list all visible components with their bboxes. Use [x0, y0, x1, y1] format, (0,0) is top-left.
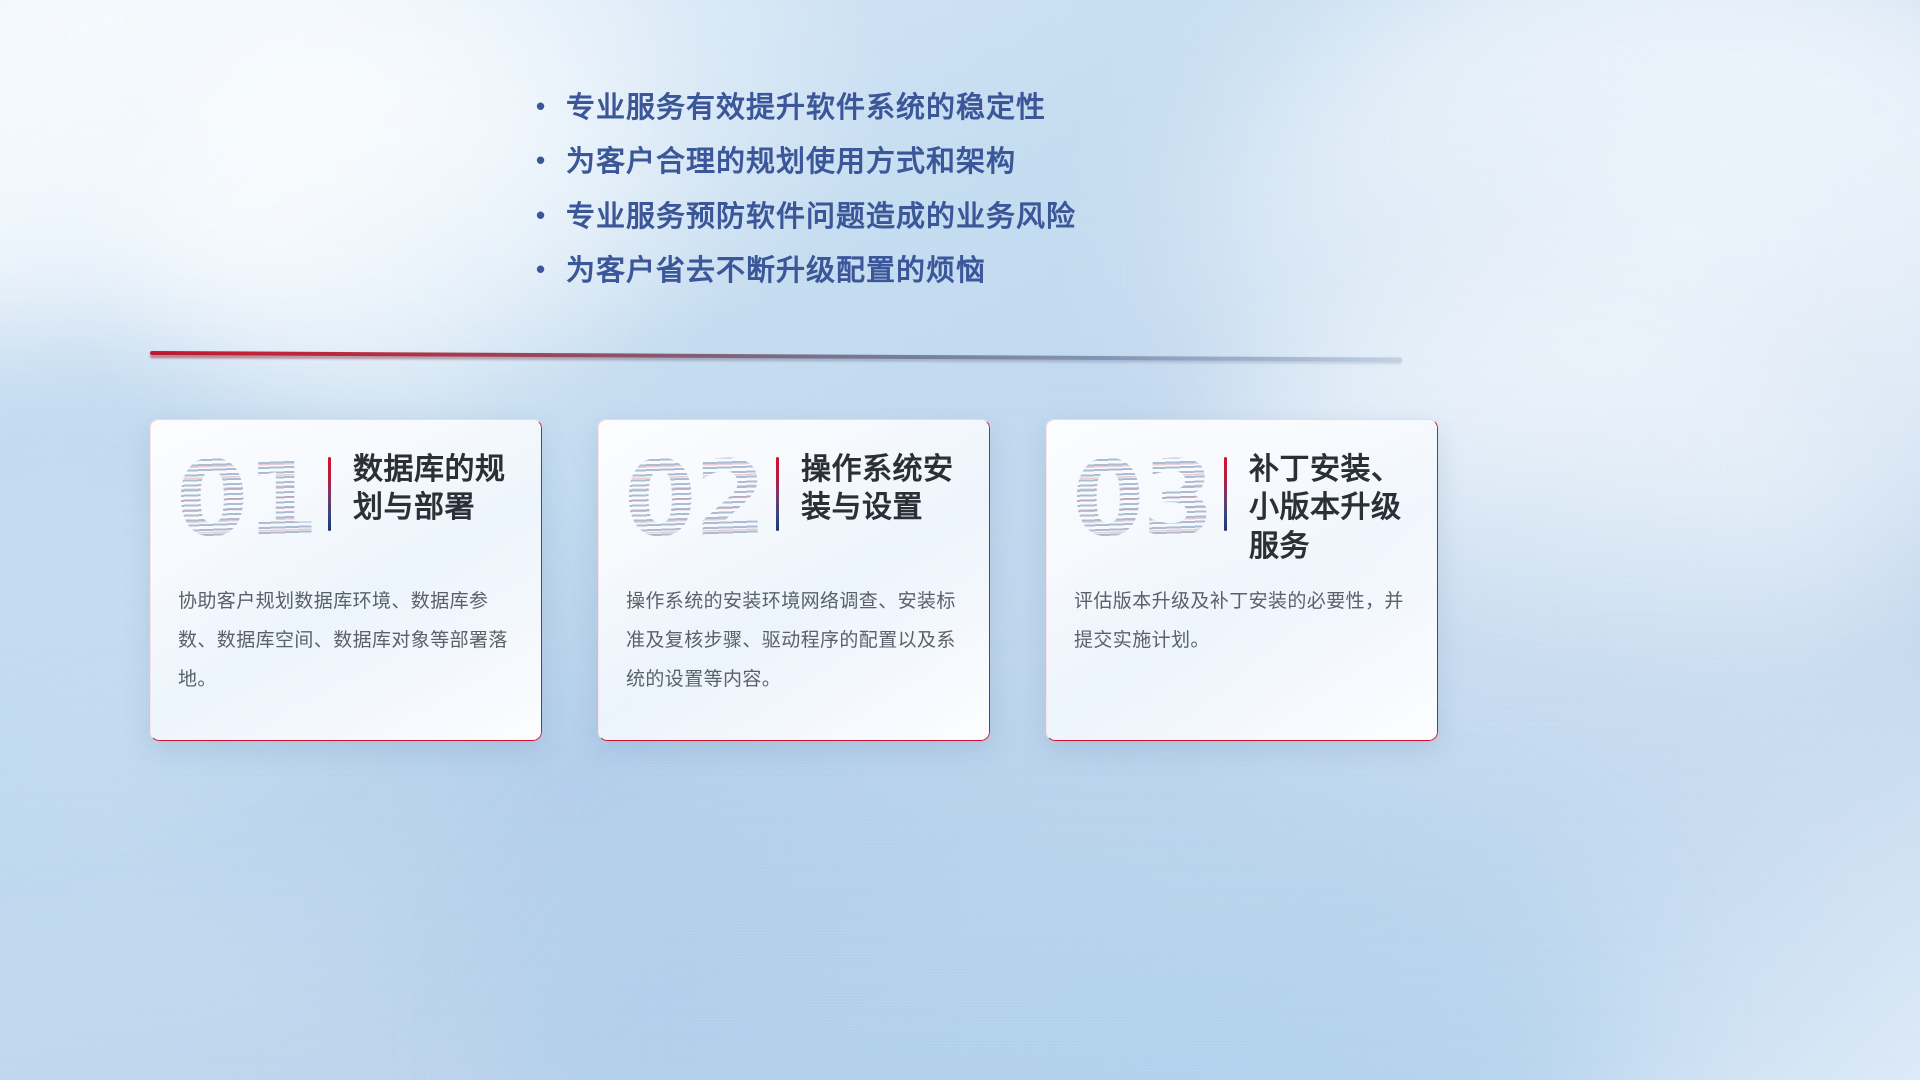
- card-number-watermark: 03: [1072, 445, 1212, 555]
- card-title-row: 数据库的规划与部署: [328, 451, 524, 531]
- title-accent-bar: [776, 457, 779, 531]
- bullet-dot-icon: •: [536, 92, 566, 121]
- card-body-text: 评估版本升级及补丁安装的必要性，并提交实施计划。: [1074, 583, 1414, 661]
- background-glow-bottom: [520, 720, 1620, 1080]
- card-title-row: 补丁安装、小版本升级服务: [1224, 451, 1420, 566]
- slide-canvas: • 专业服务有效提升软件系统的稳定性 • 为客户合理的规划使用方式和架构 • 专…: [0, 0, 1920, 1080]
- card-title-row: 操作系统安装与设置: [776, 451, 972, 531]
- section-divider: [150, 349, 1402, 370]
- bullet-dot-icon: •: [536, 146, 566, 175]
- list-item: • 专业服务预防软件问题造成的业务风险: [536, 201, 1436, 234]
- service-card[interactable]: 03 补丁安装、小版本升级服务 评估版本升级及补丁安装的必要性，并提交实施计划。: [1046, 419, 1438, 741]
- card-title: 数据库的规划与部署: [353, 451, 524, 528]
- bullet-text: 专业服务预防软件问题造成的业务风险: [566, 201, 1076, 234]
- card-body-text: 操作系统的安装环境网络调查、安装标准及复核步骤、驱动程序的配置以及系统的设置等内…: [626, 583, 966, 700]
- card-body-text: 协助客户规划数据库环境、数据库参数、数据库空间、数据库对象等部署落地。: [178, 583, 518, 700]
- title-accent-bar: [328, 457, 331, 531]
- bullet-text: 专业服务有效提升软件系统的稳定性: [566, 92, 1046, 125]
- card-number-watermark: 01: [176, 445, 316, 555]
- card-title: 操作系统安装与设置: [801, 451, 972, 528]
- bullet-text: 为客户合理的规划使用方式和架构: [566, 146, 1016, 179]
- service-card[interactable]: 01 数据库的规划与部署 协助客户规划数据库环境、数据库参数、数据库空间、数据库…: [150, 419, 542, 741]
- card-title: 补丁安装、小版本升级服务: [1249, 451, 1420, 566]
- service-card[interactable]: 02 操作系统安装与设置 操作系统的安装环境网络调查、安装标准及复核步骤、驱动程…: [598, 419, 990, 741]
- service-card-group: 01 数据库的规划与部署 协助客户规划数据库环境、数据库参数、数据库空间、数据库…: [150, 419, 1450, 744]
- bullet-dot-icon: •: [536, 201, 566, 230]
- benefits-bullet-list: • 专业服务有效提升软件系统的稳定性 • 为客户合理的规划使用方式和架构 • 专…: [536, 92, 1436, 309]
- list-item: • 为客户省去不断升级配置的烦恼: [536, 255, 1436, 288]
- card-number-watermark: 02: [624, 445, 764, 555]
- bullet-text: 为客户省去不断升级配置的烦恼: [566, 255, 986, 288]
- list-item: • 为客户合理的规划使用方式和架构: [536, 146, 1436, 179]
- title-accent-bar: [1224, 457, 1227, 531]
- list-item: • 专业服务有效提升软件系统的稳定性: [536, 92, 1436, 125]
- bullet-dot-icon: •: [536, 255, 566, 284]
